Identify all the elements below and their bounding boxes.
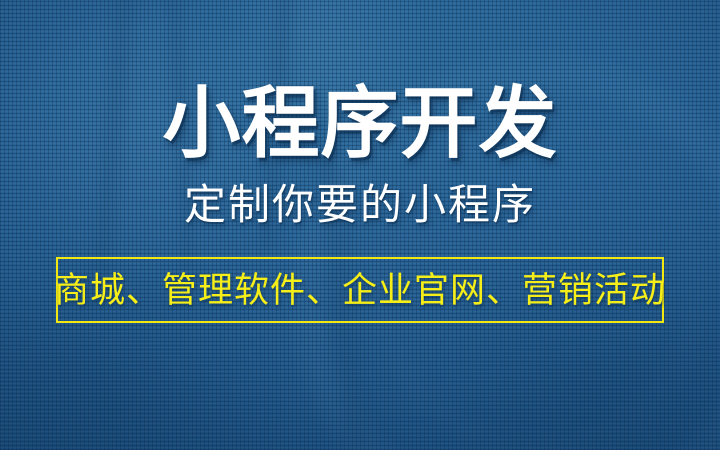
tagline-box: 商城、管理软件、企业官网、营销活动 <box>56 257 664 323</box>
banner-headline: 小程序开发 <box>162 84 557 162</box>
promo-banner: 小程序开发 定制你要的小程序 商城、管理软件、企业官网、营销活动 <box>0 0 720 450</box>
banner-subheadline: 定制你要的小程序 <box>184 184 536 226</box>
tagline-text: 商城、管理软件、企业官网、营销活动 <box>54 273 666 308</box>
banner-content: 小程序开发 定制你要的小程序 商城、管理软件、企业官网、营销活动 <box>0 0 720 450</box>
